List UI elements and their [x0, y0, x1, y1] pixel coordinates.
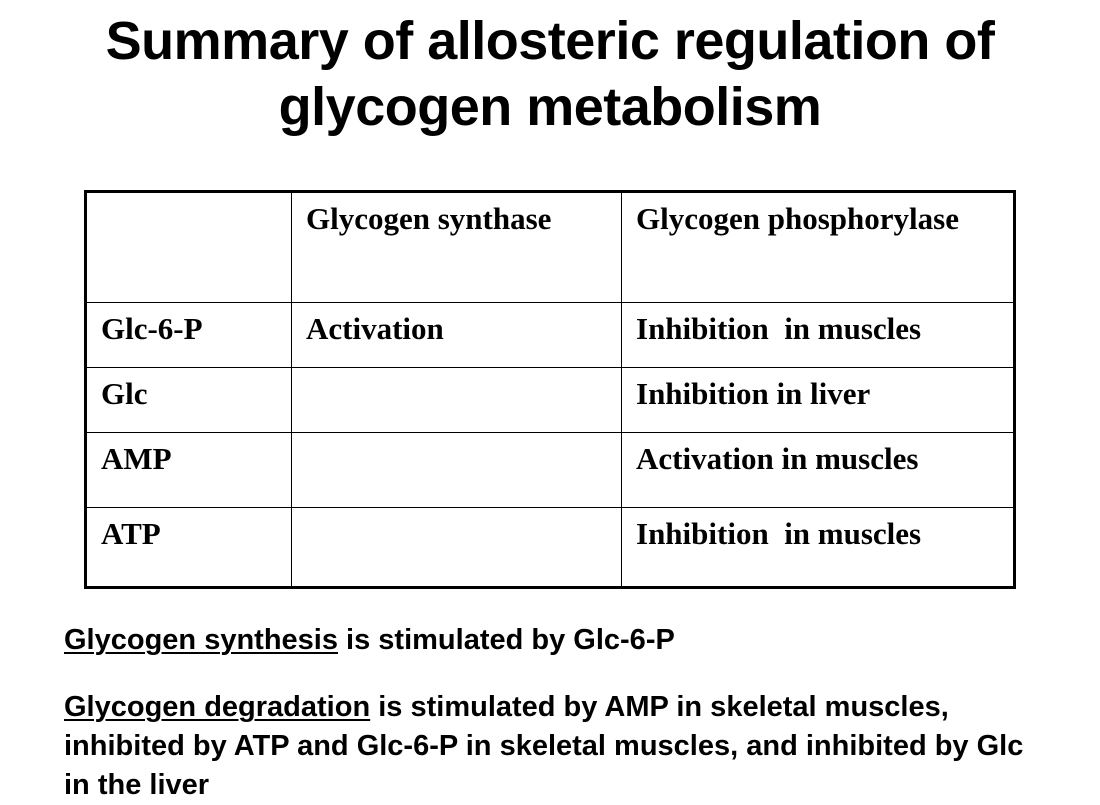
table-header-cell-glycogen-phosphorylase: Glycogen phosphorylase: [622, 192, 1015, 303]
slide-canvas: Summary of allosteric regulation of glyc…: [0, 0, 1100, 802]
summary-paragraph-synthesis: Glycogen synthesis is stimulated by Glc-…: [64, 621, 1024, 660]
summary-emphasis-glycogen-synthesis: Glycogen synthesis: [64, 624, 338, 656]
table-header-cell-effector: [86, 192, 292, 303]
cell-effector: ATP: [86, 508, 292, 588]
cell-glycogen-phosphorylase: Inhibition in muscles: [622, 508, 1015, 588]
cell-effector: Glc-6-P: [86, 303, 292, 368]
allosteric-regulation-table: Glycogen synthase Glycogen phosphorylase…: [84, 190, 1016, 589]
cell-glycogen-phosphorylase: Activation in muscles: [622, 433, 1015, 508]
cell-effector: AMP: [86, 433, 292, 508]
table-row: Glc-6-P Activation Inhibition in muscles: [86, 303, 1015, 368]
cell-effector: Glc: [86, 368, 292, 433]
page-title: Summary of allosteric regulation of glyc…: [0, 8, 1100, 140]
summary-emphasis-glycogen-degradation: Glycogen degradation: [64, 691, 370, 723]
cell-glycogen-synthase: Activation: [292, 303, 622, 368]
summary-text-synthesis: is stimulated by Glc-6-P: [338, 624, 675, 656]
table-row: AMP Activation in muscles: [86, 433, 1015, 508]
cell-glycogen-phosphorylase: Inhibition in muscles: [622, 303, 1015, 368]
table-header-cell-glycogen-synthase: Glycogen synthase: [292, 192, 622, 303]
cell-glycogen-synthase: [292, 508, 622, 588]
table-row: Glc Inhibition in liver: [86, 368, 1015, 433]
table-header-row: Glycogen synthase Glycogen phosphorylase: [86, 192, 1015, 303]
cell-glycogen-phosphorylase: Inhibition in liver: [622, 368, 1015, 433]
table-row: ATP Inhibition in muscles: [86, 508, 1015, 588]
cell-glycogen-synthase: [292, 433, 622, 508]
cell-glycogen-synthase: [292, 368, 622, 433]
summary-paragraph-degradation: Glycogen degradation is stimulated by AM…: [64, 688, 1024, 805]
